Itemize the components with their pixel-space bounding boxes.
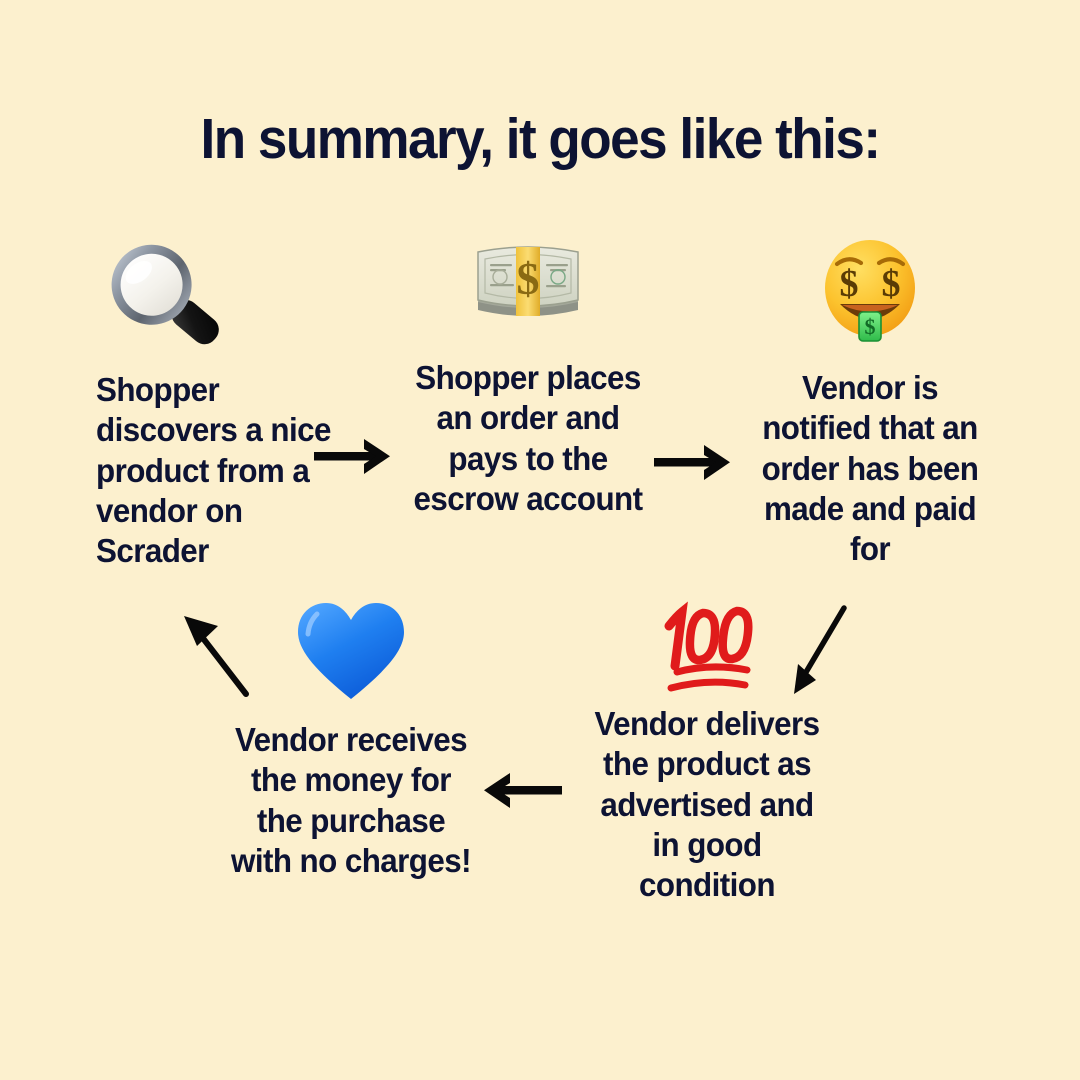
svg-text:$: $: [882, 263, 901, 305]
infographic-canvas: In summary, it goes like this:: [0, 0, 1080, 1080]
flow-step-1: Shopper discovers a nice product from a …: [96, 238, 356, 571]
arrow-step4-to-step5-icon: [474, 766, 566, 816]
page-title: In summary, it goes like this:: [38, 110, 1042, 170]
money-mouth-face-icon: $ $ $: [738, 238, 1002, 346]
arrow-step5-to-step1-icon: [178, 612, 258, 704]
arrow-step3-to-step4-icon: [782, 602, 858, 702]
svg-text:$: $: [865, 314, 876, 339]
svg-text:$: $: [517, 253, 540, 304]
flow-step-2: $ Shopper places an order and pays to th…: [400, 238, 656, 519]
flow-step-1-label: Shopper discovers a nice product from a …: [96, 370, 343, 571]
flow-step-3-label: Vendor is notified that an order has bee…: [745, 368, 996, 569]
flow-step-5-label: Vendor receives the money for the purcha…: [228, 720, 473, 881]
arrow-step2-to-step3-icon: [652, 438, 736, 488]
flow-step-3: $ $ $ Vendor is notified that an order h…: [738, 238, 1002, 569]
flow-step-4-label: Vendor delivers the product as advertise…: [584, 704, 829, 905]
arrow-step1-to-step2-icon: [312, 432, 396, 482]
flow-step-5: Vendor receives the money for the purcha…: [222, 600, 480, 881]
flow-step-2-label: Shopper places an order and pays to the …: [406, 358, 649, 519]
banknote-dollar-icon: $: [400, 238, 656, 324]
svg-text:$: $: [840, 263, 859, 305]
magnifying-glass-icon: [106, 238, 356, 350]
blue-heart-icon: [222, 600, 480, 704]
